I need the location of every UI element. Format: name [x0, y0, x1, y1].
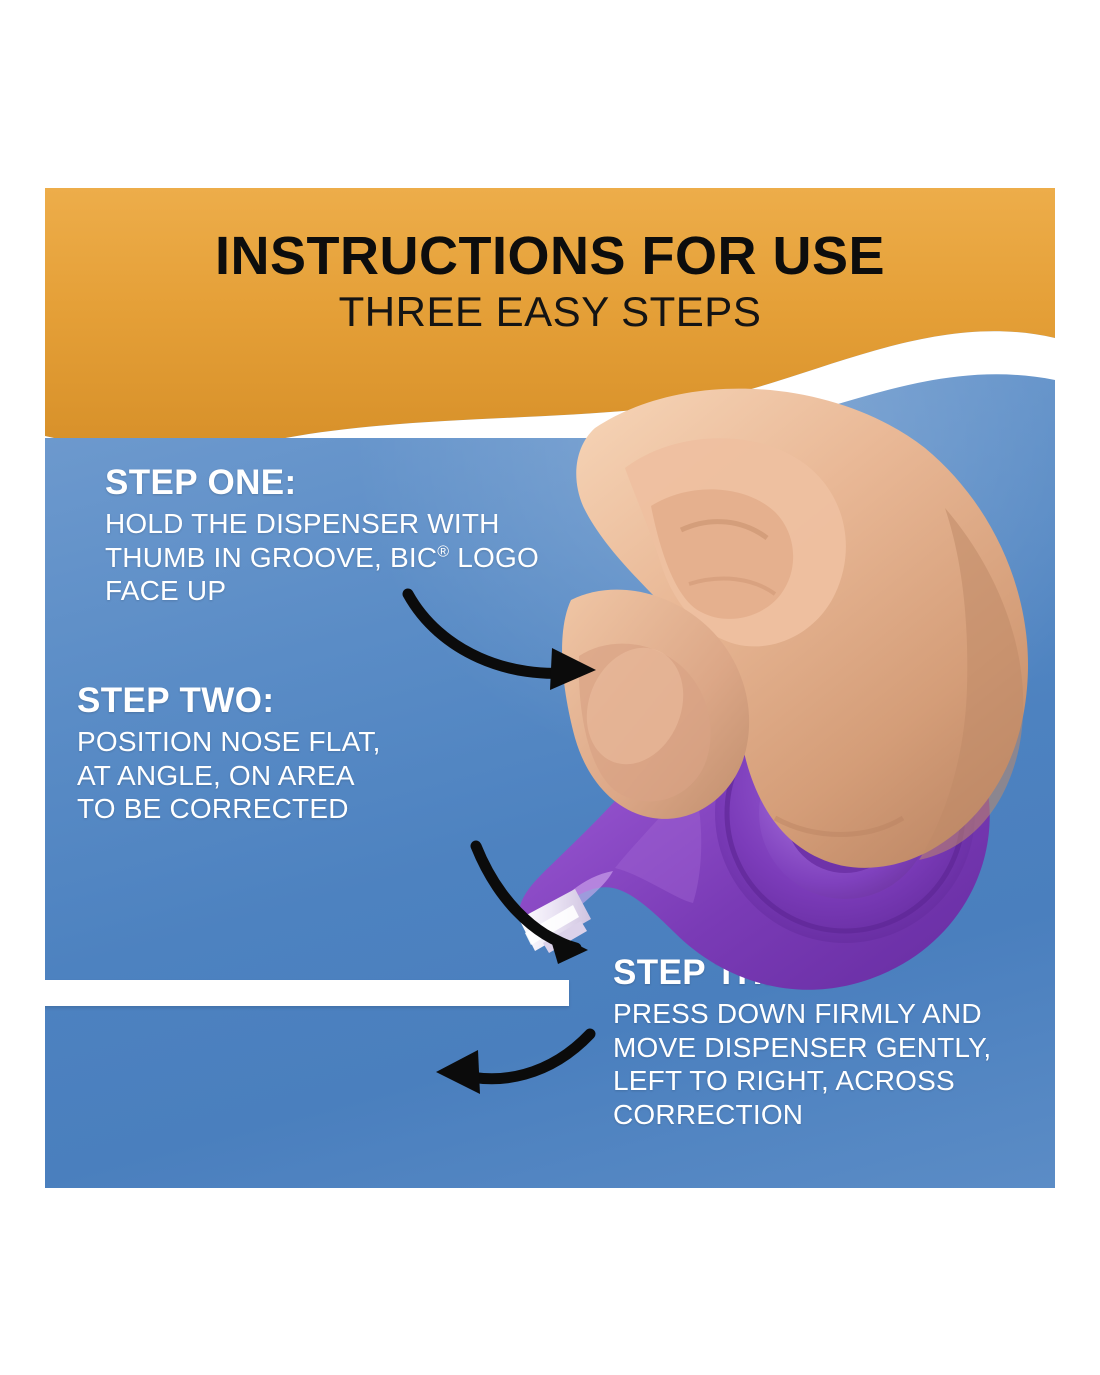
arrow-step-three-icon — [400, 1016, 600, 1111]
instruction-panel: INSTRUCTIONS FOR USE THREE EASY STEPS ST… — [45, 188, 1055, 1188]
poster-canvas: INSTRUCTIONS FOR USE THREE EASY STEPS ST… — [0, 0, 1100, 1375]
arrow-step-two-icon — [470, 838, 650, 973]
arrow-step-one-icon — [400, 586, 630, 701]
